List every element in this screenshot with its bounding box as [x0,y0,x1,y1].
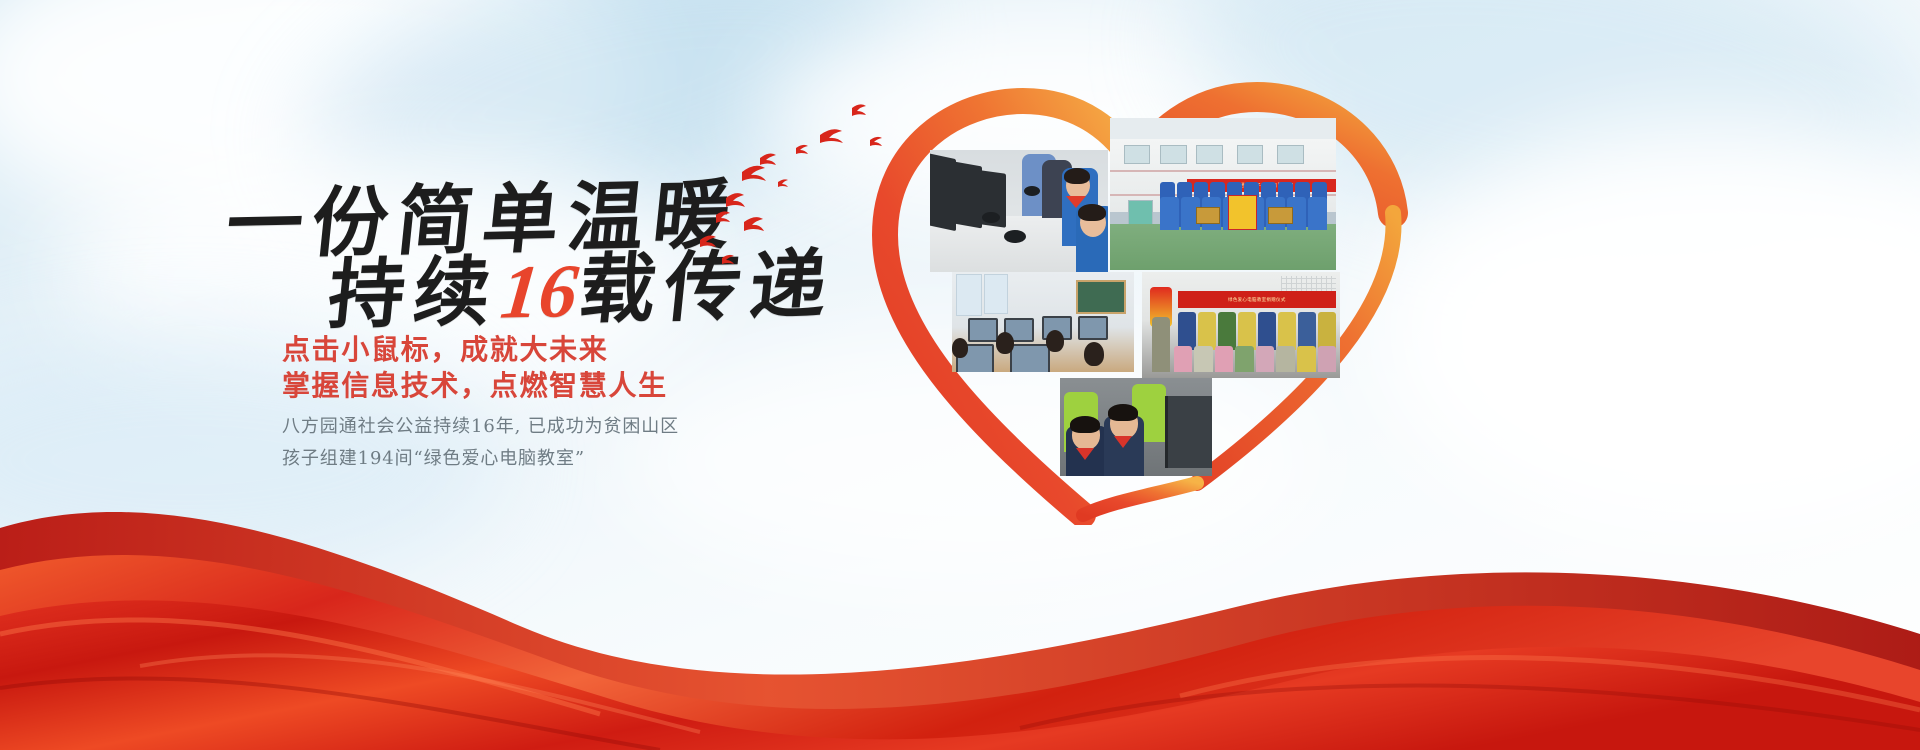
photo-smiling-students [1060,378,1212,476]
headline-line-2-prefix: 持续 [324,247,504,340]
photo-school-donation-ceremony: 广州通仙电子商务有限公司 [1110,118,1336,270]
promo-banner: 一份简单温暖 持续16载传递 点击小鼠标，成就大未来 掌握信息技术，点燃智慧人生… [0,0,1920,750]
award-banner: 绿色爱心电脑教室捐赠仪式 [1178,291,1336,308]
photo-computer-classroom [952,272,1134,372]
photo-indoor-award-ceremony: 绿色爱心电脑教室捐赠仪式 [1142,272,1340,378]
description-line-2: 孩子组建194间“绿色爱心电脑教室” [282,444,585,470]
slogan-line-2: 掌握信息技术，点燃智慧人生 [282,364,668,404]
award-banner-text: 绿色爱心电脑教室捐赠仪式 [1228,297,1286,303]
years-count: 16 [495,249,584,335]
slogan-line-1: 点击小鼠标，成就大未来 [282,328,608,368]
photo-kids-at-computers [930,150,1108,272]
description-line-1: 八方园通社会公益持续16年, 已成功为贫困山区 [282,412,679,438]
